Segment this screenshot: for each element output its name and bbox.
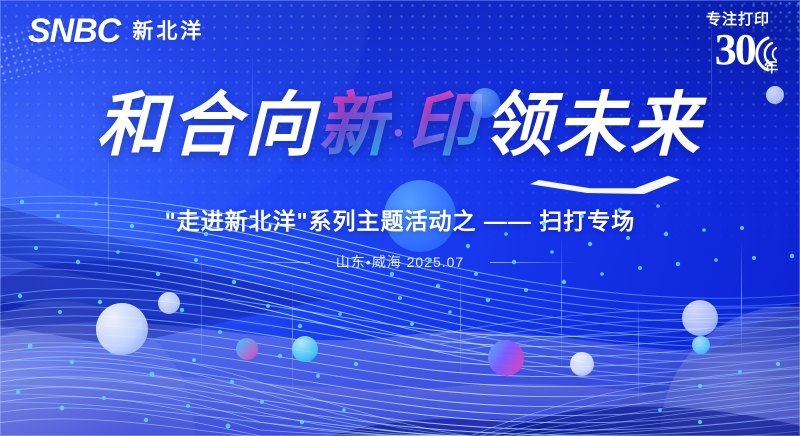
brand-logo[interactable]: SNBC 新北洋 <box>28 14 204 48</box>
anniversary-number-block: 30 年 <box>690 30 786 76</box>
sphere-gradient-magenta <box>236 338 258 360</box>
snbc-logo-icon: SNBC <box>28 14 120 48</box>
title-part-2: 新 <box>318 88 392 165</box>
sphere-gradient-pink-large <box>488 340 524 376</box>
dateline-rule-right <box>490 262 576 263</box>
event-poster: SNBC 新北洋 专注打印 30 年 和合向新·印领未来 "走进新北洋"系列主题… <box>0 0 800 436</box>
dateline: 山东•威海 2025.07 <box>0 250 800 274</box>
page-subtitle: "走进新北洋"系列主题活动之 —— 扫打专场 <box>0 202 800 236</box>
sphere-cyan-right <box>692 336 710 354</box>
title-block: 和合向新·印领未来 <box>0 92 800 162</box>
sphere-cyan <box>292 336 318 362</box>
sphere-white-large <box>96 303 148 355</box>
sphere-white-right <box>682 300 718 336</box>
title-part-1: 和合向 <box>96 88 318 165</box>
anniversary-badge: 专注打印 30 年 <box>690 12 786 76</box>
anniversary-unit: 年 <box>764 60 778 74</box>
title-separator: · <box>392 107 408 158</box>
light-beam <box>460 268 461 378</box>
brand-name-cn: 新北洋 <box>132 21 204 42</box>
light-beam <box>638 300 639 410</box>
sphere-white-mid <box>570 352 594 376</box>
calligraphy-sweep-stroke <box>530 168 680 194</box>
light-beam <box>292 280 293 400</box>
sphere-white-small <box>158 292 180 314</box>
title-part-4: 领未来 <box>482 88 704 165</box>
dateline-text: 山东•威海 2025.07 <box>310 250 490 274</box>
title-part-3: 印 <box>408 88 482 165</box>
dateline-rule-left <box>224 262 310 263</box>
page-title: 和合向新·印领未来 <box>96 92 704 162</box>
